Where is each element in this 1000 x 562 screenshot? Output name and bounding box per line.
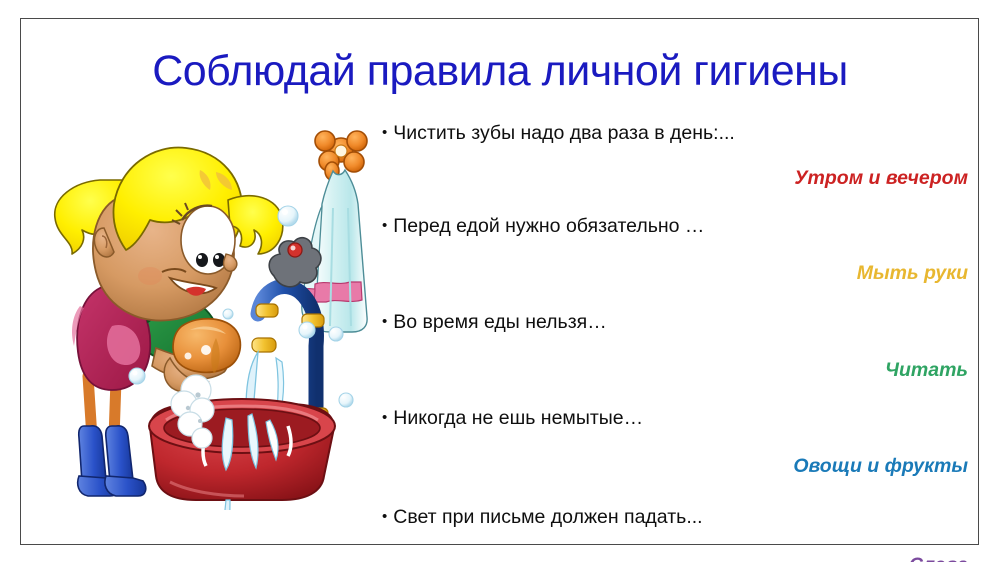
rule-question: •Перед едой нужно обязательно … [382, 215, 970, 238]
faucet-illustration [252, 238, 328, 424]
bullet-icon: • [382, 508, 387, 526]
rule-question-text: Во время еды нельзя… [393, 311, 606, 333]
rule-answer: Читать [382, 359, 970, 382]
rule-question: •Свет при письме должен падать... [382, 506, 970, 529]
page-title: Соблюдай правила личной гигиены [60, 48, 940, 95]
rule-answer: Утром и вечером [382, 167, 970, 190]
bullet-icon: • [382, 409, 387, 427]
rule-question: •Во время еды нельзя… [382, 311, 970, 334]
rule-answer: Слева [382, 554, 970, 562]
hygiene-rules-list: •Чистить зубы надо два раза в день:... У… [382, 122, 970, 562]
rule-question-text: Никогда не ешь немытые… [393, 407, 643, 429]
rule-item: •Свет при письме должен падать... Слева [382, 506, 970, 562]
rule-question-text: Чистить зубы надо два раза в день:... [393, 122, 735, 144]
rule-item: •Никогда не ешь немытые… Овощи и фрукты [382, 407, 970, 478]
legs-and-boots [78, 376, 146, 496]
bullet-icon: • [382, 124, 387, 142]
rule-answer: Мыть руки [382, 262, 970, 285]
bullet-icon: • [382, 217, 387, 235]
rule-question-text: Перед едой нужно обязательно … [393, 215, 704, 237]
rule-item: •Перед едой нужно обязательно … Мыть рук… [382, 215, 970, 286]
rule-item: •Чистить зубы надо два раза в день:... У… [382, 122, 970, 191]
rule-question-text: Свет при письме должен падать... [393, 506, 702, 528]
flower-hook-icon [315, 131, 367, 180]
rule-item: •Во время еды нельзя… Читать [382, 311, 970, 383]
bullet-icon: • [382, 313, 387, 331]
rule-answer: Овощи и фрукты [382, 455, 970, 478]
rule-question: •Никогда не ешь немытые… [382, 407, 970, 430]
hygiene-illustration [30, 108, 382, 510]
slide-canvas: Соблюдай правила личной гигиены [0, 0, 1000, 562]
rule-question: •Чистить зубы надо два раза в день:... [382, 122, 970, 145]
